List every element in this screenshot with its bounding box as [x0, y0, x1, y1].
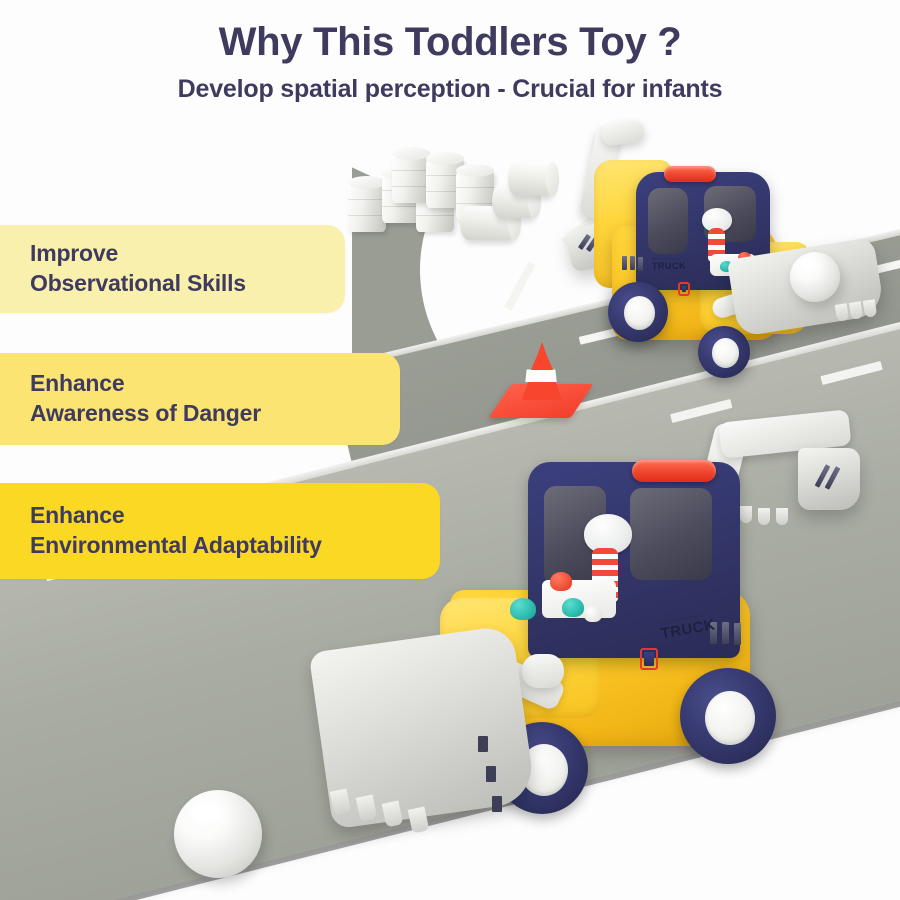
feature-badge-environmental-adaptability[interactable]: Enhance Environmental Adaptability [0, 483, 440, 579]
barrel-lying [508, 162, 554, 196]
body-vent-upper [630, 256, 635, 270]
feature-badge-improve-observational-skills[interactable]: Improve Observational Skills [0, 225, 345, 313]
wheel-front-upper [698, 326, 750, 378]
body-vent-lower [734, 623, 741, 645]
feature-badge-line2: Observational Skills [30, 269, 345, 299]
feature-badge-line2: Awareness of Danger [30, 399, 400, 429]
ball-on-road [174, 790, 262, 878]
control-knob-white-lower [584, 606, 602, 622]
cone-stripe [525, 370, 556, 383]
wheel-hub [712, 338, 739, 367]
feature-badge-awareness-of-danger[interactable]: Enhance Awareness of Danger [0, 353, 400, 445]
rear-bucket-tooth [740, 506, 752, 523]
truck-decal-main-upper: TRUCK [652, 261, 686, 271]
wheel-rear-upper [608, 282, 668, 342]
upper-truck: Construction TRUCK [560, 130, 900, 390]
page-subtitle: Develop spatial perception - Crucial for… [0, 65, 900, 104]
ball-highlight [192, 802, 222, 823]
feature-badge-line1: Enhance [30, 369, 400, 399]
loader-side-vent [492, 796, 502, 812]
rear-bucket-tooth [776, 508, 788, 525]
feature-badge-line1: Enhance [30, 501, 440, 531]
cab-window-front-lower [630, 488, 712, 580]
body-vent-upper [622, 256, 627, 270]
lane-dash [670, 399, 732, 423]
rear-bucket-tooth [758, 508, 770, 525]
loader-side-vent [478, 736, 488, 752]
feature-badge-line2: Environmental Adaptability [30, 531, 440, 561]
body-vent-lower [722, 622, 729, 644]
light-bar-lower [632, 460, 716, 482]
product-photo-scene: Construction TRUCK [0, 0, 900, 900]
cab-window-side-upper [648, 188, 688, 254]
loader-side-vent [486, 766, 496, 782]
ball-in-bucket-upper [790, 252, 840, 302]
cone-tip [531, 344, 553, 370]
barrel [348, 182, 386, 232]
truck-decal-upper: Construction TRUCK [652, 258, 686, 271]
bucket-tooth [863, 299, 878, 318]
infographic-canvas: Construction TRUCK [0, 0, 900, 900]
toy-barrel-group [330, 140, 560, 250]
truck-logo-upper [678, 282, 690, 296]
control-knob-red-lower [550, 572, 572, 591]
control-knob-teal-lower [562, 598, 584, 617]
loader-pivot-lower [522, 654, 564, 688]
ball-highlight [800, 259, 817, 271]
body-vent-upper [638, 257, 643, 271]
feature-badge-line1: Improve [30, 239, 345, 269]
truck-logo-lower [640, 648, 658, 670]
page-title: Why This Toddlers Toy ? [0, 0, 900, 65]
control-knob-teal2-lower [510, 598, 536, 620]
light-bar-upper [664, 166, 716, 182]
wheel-rear-lower [680, 668, 776, 764]
wheel-hub [705, 691, 755, 745]
wheel-hub [624, 296, 655, 330]
barrel [392, 153, 430, 203]
rear-arm-elbow-upper [601, 119, 646, 147]
header-block: Why This Toddlers Toy ? Develop spatial … [0, 0, 900, 104]
